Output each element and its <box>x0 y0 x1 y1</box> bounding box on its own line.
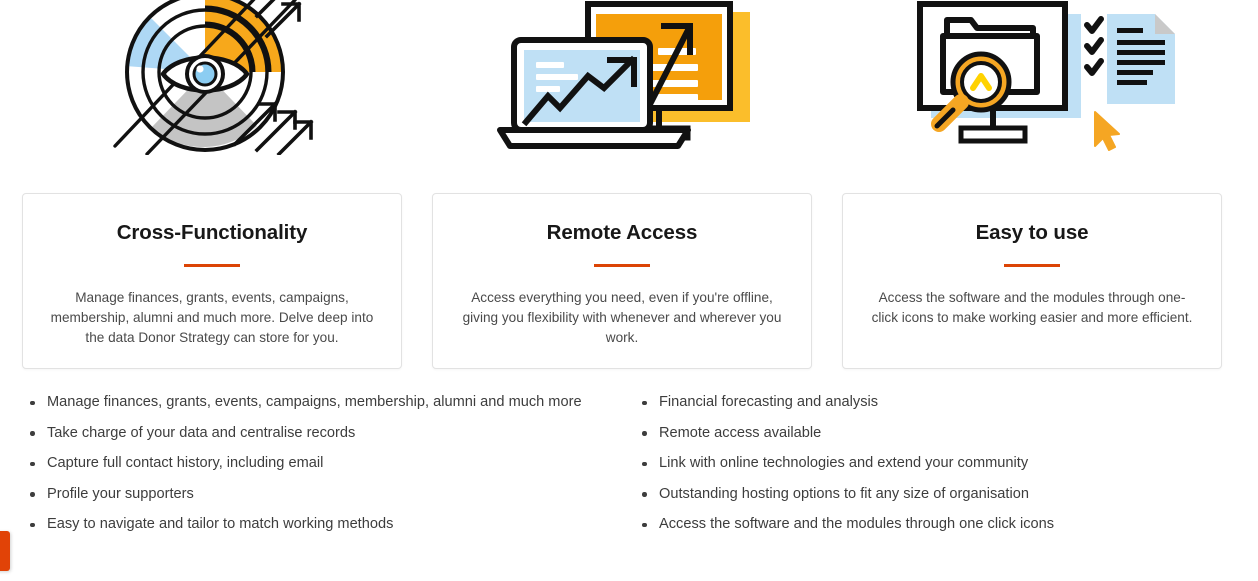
feature-card-easy-to-use: Easy to use Access the software and the … <box>842 193 1222 369</box>
list-item: Take charge of your data and centralise … <box>24 423 614 445</box>
card-accent-rule <box>184 264 240 267</box>
feature-card-row: Cross-Functionality Manage finances, gra… <box>0 193 1258 371</box>
card-description: Manage finances, grants, events, campaig… <box>49 288 375 348</box>
bullet-list: Financial forecasting and analysis Remot… <box>636 392 1236 536</box>
card-accent-rule <box>1004 264 1060 267</box>
monitor-folder-search-illustration <box>903 0 1183 155</box>
list-item: Outstanding hosting options to fit any s… <box>636 484 1236 506</box>
eye-radar-illustration <box>107 0 317 155</box>
card-title: Remote Access <box>433 221 811 246</box>
list-item: Easy to navigate and tailor to match wor… <box>24 514 614 536</box>
list-item: Access the software and the modules thro… <box>636 514 1236 536</box>
feature-list-left: Manage finances, grants, events, campaig… <box>24 392 614 545</box>
card-title: Cross-Functionality <box>23 221 401 246</box>
laptop-monitor-growth-illustration <box>492 0 754 155</box>
card-description: Access the software and the modules thro… <box>869 288 1195 328</box>
list-item: Financial forecasting and analysis <box>636 392 1236 414</box>
list-item: Capture full contact history, including … <box>24 453 614 475</box>
card-accent-rule <box>594 264 650 267</box>
list-item: Profile your supporters <box>24 484 614 506</box>
side-tab-widget[interactable] <box>0 531 10 571</box>
feature-card-remote-access: Remote Access Access everything you need… <box>432 193 812 369</box>
feature-lists: Manage finances, grants, events, campaig… <box>0 392 1258 581</box>
list-item: Manage finances, grants, events, campaig… <box>24 392 614 414</box>
list-item: Link with online technologies and extend… <box>636 453 1236 475</box>
illustration-row <box>0 0 1258 155</box>
feature-list-right: Financial forecasting and analysis Remot… <box>636 392 1236 545</box>
card-title: Easy to use <box>843 221 1221 246</box>
bullet-list: Manage finances, grants, events, campaig… <box>24 392 614 536</box>
feature-card-cross-functionality: Cross-Functionality Manage finances, gra… <box>22 193 402 369</box>
list-item: Remote access available <box>636 423 1236 445</box>
card-description: Access everything you need, even if you'… <box>459 288 785 348</box>
